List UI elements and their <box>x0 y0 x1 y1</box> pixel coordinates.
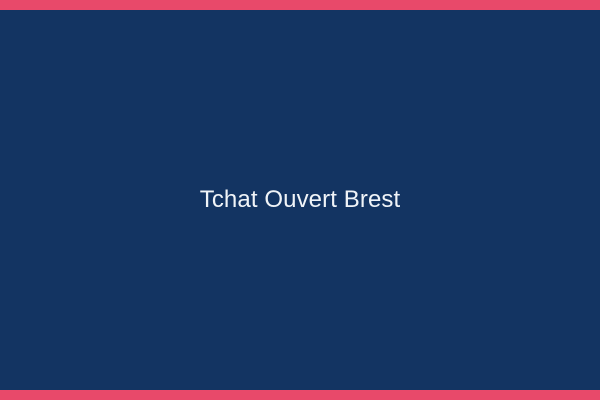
banner-card: Tchat Ouvert Brest <box>0 0 600 400</box>
banner-title: Tchat Ouvert Brest <box>184 186 417 215</box>
bottom-accent-bar <box>0 390 600 400</box>
banner-content-area: Tchat Ouvert Brest <box>0 10 600 390</box>
top-accent-bar <box>0 0 600 10</box>
